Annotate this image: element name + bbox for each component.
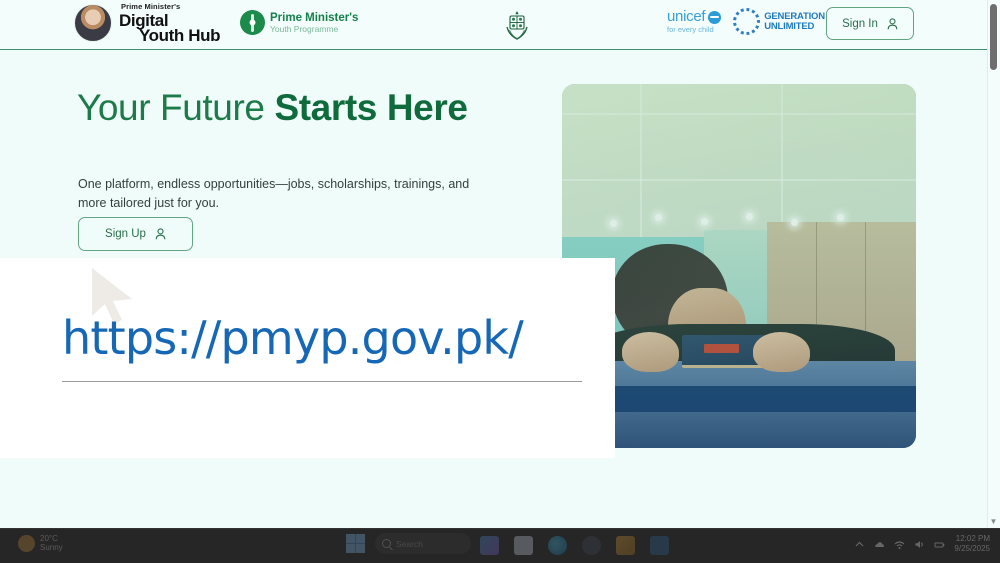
sun-icon xyxy=(18,535,35,552)
pmyp-emblem-icon xyxy=(240,10,265,35)
taskbar-app-icons xyxy=(480,536,669,555)
dotted-circle-icon xyxy=(733,8,760,35)
unicef-tagline: for every child xyxy=(667,26,721,34)
network-icon[interactable] xyxy=(894,539,905,550)
taskbar-center-group: Search xyxy=(346,533,471,554)
genu-wordmark: GENERATION UNLIMITED xyxy=(764,12,825,31)
teams-icon[interactable] xyxy=(582,536,601,555)
pm-youth-programme-logo[interactable]: Prime Minister's Youth Programme xyxy=(240,10,358,35)
url-text: https://pmyp.gov.pk/ xyxy=(62,311,523,365)
vertical-scrollbar[interactable]: ▼ xyxy=(987,0,1000,528)
generation-unlimited-logo[interactable]: GENERATION UNLIMITED xyxy=(733,8,825,35)
photo-green-tint-overlay xyxy=(562,84,916,448)
hero-title-light: Your Future xyxy=(77,87,274,128)
scroll-down-arrow-icon[interactable]: ▼ xyxy=(989,517,998,526)
weather-condition: Sunny xyxy=(40,544,63,553)
sign-up-button[interactable]: Sign Up xyxy=(78,217,193,251)
url-underline xyxy=(62,381,582,382)
partner-logos: unicef for every child GENERATION UNLIMI… xyxy=(667,8,825,35)
pmyp-wordmark: Prime Minister's Youth Programme xyxy=(270,12,358,34)
unicef-logo[interactable]: unicef for every child xyxy=(667,9,721,34)
person-icon xyxy=(155,228,166,240)
site-header: Prime Minister's Digital Youth Hub Prime… xyxy=(0,0,987,50)
onedrive-icon[interactable] xyxy=(874,539,885,550)
taskbar-search-box[interactable]: Search xyxy=(375,533,471,554)
hero-title-bold: Starts Here xyxy=(274,87,467,128)
hero-subtitle: One platform, endless opportunities—jobs… xyxy=(78,175,478,214)
screen: Prime Minister's Digital Youth Hub Prime… xyxy=(0,0,1000,563)
pakistan-state-emblem-icon xyxy=(503,9,531,41)
unicef-wordmark: unicef xyxy=(667,9,705,25)
file-explorer-icon[interactable] xyxy=(514,536,533,555)
person-icon xyxy=(887,18,898,30)
chevron-up-icon[interactable] xyxy=(854,539,865,550)
url-overlay-panel: https://pmyp.gov.pk/ xyxy=(0,258,615,458)
clock-time: 12:02 PM xyxy=(954,534,990,544)
sign-up-label: Sign Up xyxy=(105,228,146,240)
hero-photo xyxy=(562,84,916,448)
pmyp-line1: Prime Minister's xyxy=(270,12,358,24)
taskbar-system-tray: 12:02 PM 9/25/2025 xyxy=(854,534,990,554)
pmyp-line2: Youth Programme xyxy=(270,25,358,34)
unicef-globe-icon xyxy=(708,11,721,24)
genu-line2: UNLIMITED xyxy=(764,22,825,32)
scrollbar-thumb[interactable] xyxy=(990,4,997,70)
copilot-icon[interactable] xyxy=(480,536,499,555)
pm-portrait-avatar xyxy=(74,4,112,42)
sign-in-label: Sign In xyxy=(842,18,878,30)
clock-date: 9/25/2025 xyxy=(954,544,990,554)
search-icon xyxy=(382,539,391,548)
taskbar-weather-widget[interactable]: 20°C Sunny xyxy=(18,535,63,553)
start-tile xyxy=(356,544,365,553)
hero-title: Your Future Starts Here xyxy=(77,84,507,131)
search-placeholder: Search xyxy=(396,539,423,549)
volume-icon[interactable] xyxy=(914,539,925,550)
dyh-eyebrow: Prime Minister's xyxy=(121,3,220,11)
windows-taskbar: 20°C Sunny Search xyxy=(0,528,1000,563)
store-icon[interactable] xyxy=(650,536,669,555)
dyh-wordmark: Prime Minister's Digital Youth Hub xyxy=(119,3,220,44)
start-tile xyxy=(356,534,365,543)
digital-youth-hub-logo[interactable]: Prime Minister's Digital Youth Hub xyxy=(74,3,220,44)
start-tile xyxy=(346,534,355,543)
weather-text: 20°C Sunny xyxy=(40,535,63,553)
unicef-logo-row: unicef xyxy=(667,9,721,25)
start-tile xyxy=(346,544,355,553)
start-button-icon[interactable] xyxy=(346,534,365,553)
battery-icon[interactable] xyxy=(934,539,945,550)
photos-icon[interactable] xyxy=(616,536,635,555)
sign-in-button[interactable]: Sign In xyxy=(826,7,914,40)
edge-browser-icon[interactable] xyxy=(548,536,567,555)
taskbar-clock[interactable]: 12:02 PM 9/25/2025 xyxy=(954,534,990,554)
